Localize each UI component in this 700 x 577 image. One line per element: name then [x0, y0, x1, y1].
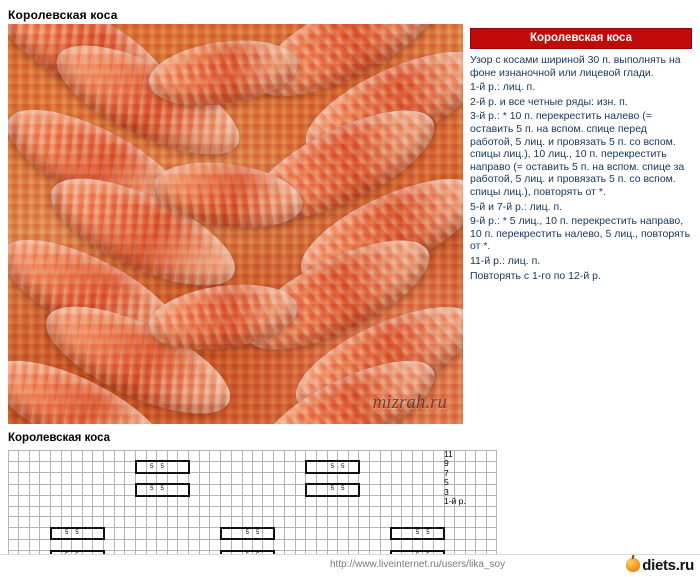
chart-cell: [232, 528, 242, 539]
chart-cell: [93, 461, 104, 472]
chart-cell: [465, 528, 475, 539]
chart-cell: [29, 451, 39, 462]
chart-cell: [486, 539, 496, 550]
photo-watermark: mizrah.ru: [373, 392, 447, 414]
chart-cell: [51, 461, 62, 472]
chart-cell: [136, 517, 147, 528]
chart-row: [9, 539, 497, 550]
chart-cell: [178, 539, 189, 550]
chart-cell: [338, 473, 348, 484]
chart-cell: [465, 484, 475, 495]
chart-row-numbers: 11 9 7 5 3 1-й р.: [444, 450, 466, 506]
chart-cell: [444, 528, 455, 539]
description-paragraph: 3-й р.: * 10 п. перекрестить налево (= о…: [470, 110, 692, 198]
chart-cell: [51, 539, 62, 550]
chart-cell: [210, 496, 221, 507]
chart-cell: [189, 473, 200, 484]
chart-cell: [359, 517, 370, 528]
chart-cell: [465, 506, 475, 516]
chart-cell: [61, 473, 71, 484]
chart-cell: 5: [72, 528, 82, 539]
chart-cell: [19, 528, 29, 539]
chart-cell: [285, 528, 295, 539]
chart-cell: [285, 451, 295, 462]
chart-cell: 5: [157, 484, 167, 495]
chart-cell: [338, 451, 348, 462]
chart-cell: [189, 539, 200, 550]
chart-cell: [9, 461, 19, 472]
chart-cell: 5: [61, 528, 71, 539]
chart-row: 5555: [9, 484, 497, 495]
chart-cell: [9, 473, 19, 484]
chart-cell: 5: [412, 528, 422, 539]
chart-cell: [263, 506, 274, 516]
chart-cell: [40, 517, 51, 528]
description-body: Узор с косами шириной 30 п. выполнять на…: [470, 54, 692, 282]
chart-cell: [306, 517, 317, 528]
chart-cell: [29, 496, 39, 507]
chart-cell: 5: [327, 461, 337, 472]
chart-cell: [306, 461, 317, 472]
chart-cell: [338, 539, 348, 550]
chart-cell: [19, 506, 29, 516]
chart-cell: [402, 484, 412, 495]
chart-cell: [327, 451, 337, 462]
chart-cell: [232, 539, 242, 550]
chart-cell: [51, 484, 62, 495]
chart-row: 555555: [9, 528, 497, 539]
chart-cell: [274, 484, 285, 495]
chart-cell: [391, 484, 402, 495]
chart-cell: [178, 451, 189, 462]
chart-cell: 5: [327, 484, 337, 495]
chart-cell: [147, 506, 157, 516]
chart-row: [9, 496, 497, 507]
chart-cell: [167, 451, 177, 462]
chart-cell: [200, 484, 210, 495]
chart-cell: [61, 506, 71, 516]
chart-cell: [285, 473, 295, 484]
chart-cell: [263, 517, 274, 528]
chart-cell: [9, 528, 19, 539]
chart-cell: [295, 473, 306, 484]
chart-cell: [423, 484, 433, 495]
chart-cell: [317, 506, 327, 516]
chart-cell: [242, 539, 252, 550]
chart-cell: [114, 496, 124, 507]
chart-cell: [125, 496, 136, 507]
chart-row: [9, 506, 497, 516]
chart-cell: [444, 517, 455, 528]
chart-cell: [433, 451, 444, 462]
chart-cell: [167, 496, 177, 507]
chart-cell: [338, 496, 348, 507]
chart-cell: [232, 496, 242, 507]
description-panel: Королевская коса Узор с косами шириной 3…: [470, 28, 692, 284]
chart-cell: [486, 528, 496, 539]
chart-cell: [252, 517, 262, 528]
chart-cell: [348, 506, 359, 516]
chart-cell: [61, 451, 71, 462]
chart-cell: [104, 528, 115, 539]
chart-cell: [104, 451, 115, 462]
chart-cell: [114, 461, 124, 472]
chart-cell: 5: [242, 528, 252, 539]
chart-cell: [348, 496, 359, 507]
chart-cell: [40, 528, 51, 539]
chart-cell: [295, 517, 306, 528]
chart-cell: [93, 484, 104, 495]
chart-cell: [317, 496, 327, 507]
chart-cell: [82, 473, 92, 484]
chart-cell: [380, 473, 391, 484]
chart-cell: [263, 461, 274, 472]
chart-cell: [359, 506, 370, 516]
chart-cell: [380, 506, 391, 516]
chart-row: [9, 517, 497, 528]
chart-cell: [391, 473, 402, 484]
chart-cell: [82, 517, 92, 528]
chart-cell: [433, 484, 444, 495]
chart-cell: [263, 473, 274, 484]
chart-cell: [252, 539, 262, 550]
chart-cell: [29, 539, 39, 550]
chart-cell: 5: [423, 528, 433, 539]
chart-cell: [147, 539, 157, 550]
chart-cell: [317, 473, 327, 484]
chart-cell: [338, 528, 348, 539]
chart-cell: [51, 496, 62, 507]
chart-cell: [391, 539, 402, 550]
chart-cell: [9, 517, 19, 528]
chart-cell: [348, 539, 359, 550]
chart-cell: [327, 496, 337, 507]
chart-cell: [136, 528, 147, 539]
chart-cell: [93, 528, 104, 539]
chart-cell: [40, 484, 51, 495]
chart-cell: [125, 539, 136, 550]
chart-cell: [82, 496, 92, 507]
chart-cell: [157, 539, 167, 550]
chart-cell: [125, 506, 136, 516]
chart-cell: [114, 473, 124, 484]
chart-cell: [189, 484, 200, 495]
chart-cell: [252, 451, 262, 462]
chart-cell: [167, 484, 177, 495]
footer-bar: http://www.liveinternet.ru/users/lika_so…: [0, 554, 700, 577]
chart-cell: [359, 473, 370, 484]
chart-row: [9, 451, 497, 462]
chart-cell: [412, 506, 422, 516]
chart-cell: [359, 496, 370, 507]
chart-cell: [9, 506, 19, 516]
chart-cell: [402, 528, 412, 539]
chart-cell: [263, 539, 274, 550]
chart-cell: [274, 506, 285, 516]
description-paragraph: 9-й р.: * 5 лиц., 10 п. перекрестить нап…: [470, 215, 692, 253]
chart-cell: [232, 484, 242, 495]
chart-cell: [465, 451, 475, 462]
chart-cell: [263, 528, 274, 539]
chart-cell: [285, 539, 295, 550]
chart-cell: [221, 539, 232, 550]
chart-cell: [380, 461, 391, 472]
chart-cell: [210, 506, 221, 516]
chart-cell: [147, 451, 157, 462]
chart-cell: [317, 539, 327, 550]
chart-cell: [136, 473, 147, 484]
chart-cell: [242, 461, 252, 472]
chart-cell: [40, 461, 51, 472]
chart-cell: [359, 461, 370, 472]
chart-cell: [402, 496, 412, 507]
chart-cell: [476, 473, 486, 484]
chart-cell: [82, 484, 92, 495]
chart-cell: [348, 473, 359, 484]
chart-cell: [147, 496, 157, 507]
chart-cell: [306, 506, 317, 516]
chart-cell: [221, 473, 232, 484]
chart-cell: [178, 461, 189, 472]
chart-cell: [423, 451, 433, 462]
chart-cell: [359, 539, 370, 550]
chart-cell: [402, 539, 412, 550]
chart-cell: [274, 528, 285, 539]
chart-cell: [370, 451, 380, 462]
chart-cell: 5: [252, 528, 262, 539]
chart-cell: [210, 484, 221, 495]
chart-cell: [200, 517, 210, 528]
chart-cell: [221, 517, 232, 528]
chart-cell: [157, 496, 167, 507]
chart-cell: [295, 506, 306, 516]
chart-cell: [252, 506, 262, 516]
description-paragraph: Повторять с 1-го по 12-й р.: [470, 270, 692, 283]
chart-cell: [242, 473, 252, 484]
chart-cell: [125, 461, 136, 472]
chart-cell: [423, 517, 433, 528]
chart-cell: [210, 451, 221, 462]
chart-cell: [370, 528, 380, 539]
chart-cell: [465, 473, 475, 484]
chart-cell: [221, 528, 232, 539]
chart-cell: [40, 473, 51, 484]
chart-cell: [433, 539, 444, 550]
chart-cell: [200, 539, 210, 550]
chart-cell: [252, 496, 262, 507]
chart-cell: [359, 484, 370, 495]
chart-cell: [252, 484, 262, 495]
chart-cell: [136, 461, 147, 472]
chart-cell: [82, 461, 92, 472]
chart-cell: [136, 496, 147, 507]
chart-cell: 5: [147, 484, 157, 495]
chart-cell: [412, 473, 422, 484]
chart-cell: [486, 496, 496, 507]
description-paragraph: 5-й и 7-й р.: лиц. п.: [470, 201, 692, 214]
chart-cell: [465, 496, 475, 507]
chart-cell: [157, 528, 167, 539]
chart-cell: [136, 451, 147, 462]
chart-cell: [433, 473, 444, 484]
chart-cell: [317, 517, 327, 528]
chart-cell: [380, 528, 391, 539]
chart-cell: [348, 484, 359, 495]
chart-cell: [178, 496, 189, 507]
chart-row: 5555: [9, 461, 497, 472]
chart-cell: [125, 451, 136, 462]
chart-cell: [402, 451, 412, 462]
chart-cell: [348, 528, 359, 539]
chart-cell: [285, 461, 295, 472]
chart-cell: [40, 496, 51, 507]
chart-cell: [61, 517, 71, 528]
chart-cell: [157, 517, 167, 528]
chart-cell: [9, 451, 19, 462]
chart-cell: [178, 506, 189, 516]
chart-cell: [61, 539, 71, 550]
chart-cell: [476, 517, 486, 528]
chart-cell: [136, 484, 147, 495]
description-paragraph: 11-й р.: лиц. п.: [470, 255, 692, 268]
chart-cell: [274, 473, 285, 484]
chart-cell: [51, 451, 62, 462]
chart-cell: [189, 461, 200, 472]
chart-cell: [221, 484, 232, 495]
chart-cell: [167, 539, 177, 550]
chart-cell: [40, 451, 51, 462]
chart-cell: [72, 484, 82, 495]
chart-cell: [147, 528, 157, 539]
chart-cell: [455, 506, 465, 516]
chart-cell: [252, 473, 262, 484]
chart-cell: [433, 506, 444, 516]
chart-cell: [210, 528, 221, 539]
chart-cell: [486, 484, 496, 495]
chart-cell: [380, 496, 391, 507]
chart-cell: [295, 484, 306, 495]
chart-cell: [412, 496, 422, 507]
chart-cell: [402, 473, 412, 484]
chart-cell: [189, 506, 200, 516]
chart-cell: [402, 517, 412, 528]
chart-cell: [391, 528, 402, 539]
chart-cell: [476, 539, 486, 550]
chart-cell: [104, 461, 115, 472]
chart-cell: [29, 473, 39, 484]
chart-cell: [114, 451, 124, 462]
chart-cell: [221, 496, 232, 507]
chart-cell: [29, 517, 39, 528]
chart-cell: [221, 451, 232, 462]
chart-cell: [29, 528, 39, 539]
chart-cell: [465, 461, 475, 472]
description-paragraph: Узор с косами шириной 30 п. выполнять на…: [470, 54, 692, 79]
chart-cell: [242, 517, 252, 528]
chart-cell: [348, 451, 359, 462]
chart-cell: [167, 461, 177, 472]
chart-cell: [19, 451, 29, 462]
chart-cell: 5: [338, 484, 348, 495]
chart-cell: [200, 528, 210, 539]
chart-title: Королевская коса: [8, 432, 110, 444]
chart-cell: [295, 528, 306, 539]
page-root: Королевская коса mizrah.ru Королевская к…: [0, 0, 700, 577]
chart-cell: [104, 473, 115, 484]
chart-cell: [391, 496, 402, 507]
chart-cell: [200, 496, 210, 507]
apple-icon: [626, 558, 640, 572]
chart-cell: [252, 461, 262, 472]
chart-cell: [189, 528, 200, 539]
chart-cell: [82, 539, 92, 550]
chart-cell: [114, 517, 124, 528]
chart-cell: [402, 461, 412, 472]
chart-cell: [486, 473, 496, 484]
chart-cell: [189, 451, 200, 462]
chart-cell: [232, 473, 242, 484]
chart-cell: [476, 461, 486, 472]
chart-cell: [200, 451, 210, 462]
chart-cell: [370, 506, 380, 516]
chart-cell: [9, 539, 19, 550]
chart-cell: [486, 451, 496, 462]
chart-cell: [72, 461, 82, 472]
chart-cell: [157, 451, 167, 462]
chart-cell: [72, 496, 82, 507]
chart-cell: [51, 528, 62, 539]
chart-cell: [51, 506, 62, 516]
chart-cell: [125, 528, 136, 539]
chart-cell: [327, 473, 337, 484]
chart-cell: [285, 484, 295, 495]
chart-cell: [295, 451, 306, 462]
diets-logo[interactable]: diets.ru: [626, 556, 694, 574]
chart-cell: [19, 473, 29, 484]
chart-cell: [136, 506, 147, 516]
photo-title: Королевская коса: [8, 8, 118, 22]
chart-cell: [285, 506, 295, 516]
chart-cell: [423, 506, 433, 516]
chart-cell: [19, 517, 29, 528]
chart-cell: [51, 517, 62, 528]
chart-cell: [114, 506, 124, 516]
chart-cell: [433, 496, 444, 507]
chart-cell: [306, 473, 317, 484]
chart-cell: [61, 484, 71, 495]
footer-url[interactable]: http://www.liveinternet.ru/users/lika_so…: [330, 559, 505, 570]
chart-cell: [380, 451, 391, 462]
chart-cell: [370, 496, 380, 507]
chart-cell: [9, 496, 19, 507]
chart-cell: [263, 451, 274, 462]
chart-cell: [136, 539, 147, 550]
chart-cell: [221, 506, 232, 516]
chart-cell: [167, 517, 177, 528]
chart-cell: [82, 451, 92, 462]
chart-cell: [82, 528, 92, 539]
chart-cell: [232, 506, 242, 516]
chart-cell: [167, 473, 177, 484]
chart-cell: [40, 539, 51, 550]
knit-texture-overlay: [8, 24, 463, 424]
chart-cell: [200, 506, 210, 516]
chart-cell: [295, 539, 306, 550]
chart-cell: [327, 539, 337, 550]
chart-cell: [423, 461, 433, 472]
chart-cell: [380, 539, 391, 550]
chart-cell: [72, 517, 82, 528]
